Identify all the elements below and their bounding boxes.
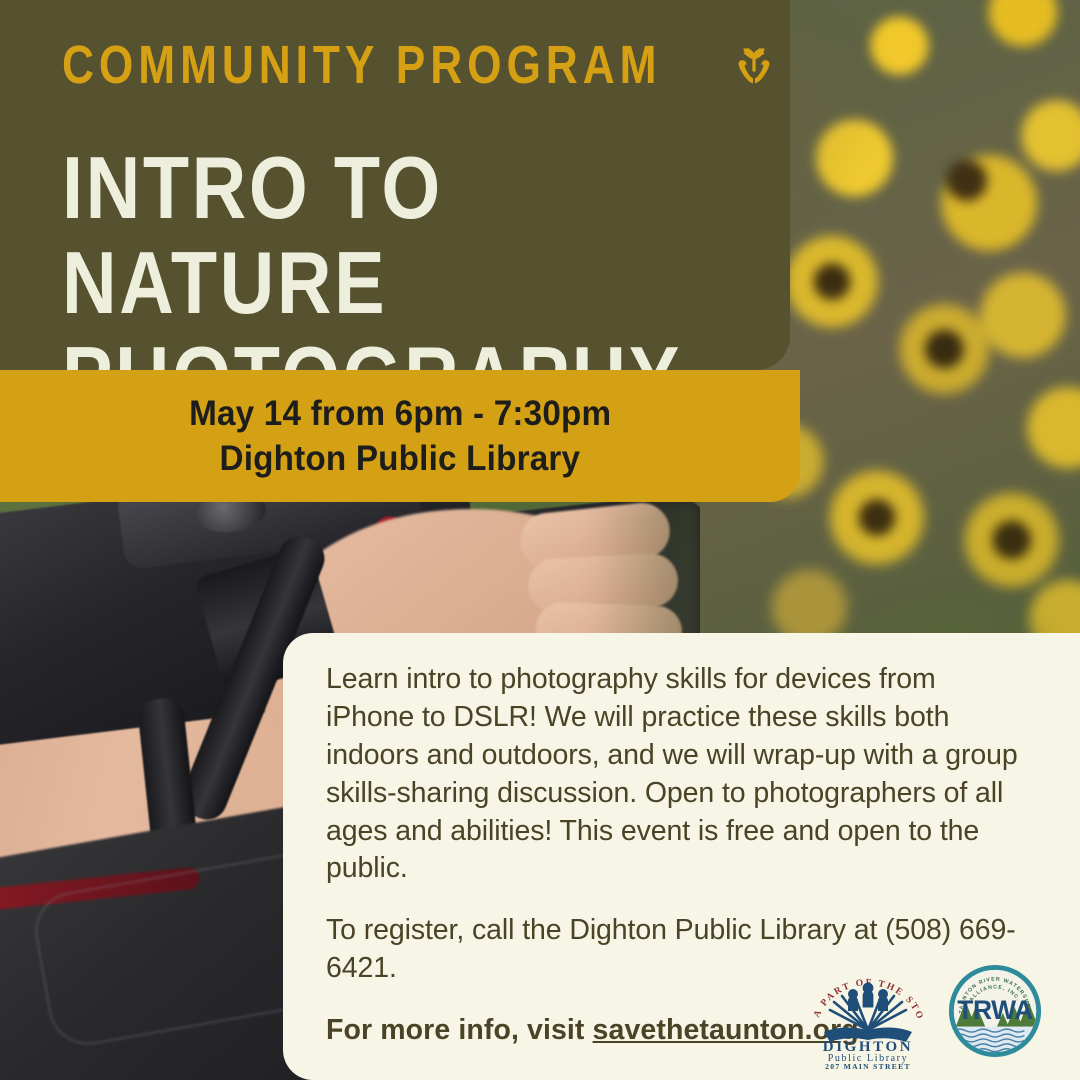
poster-canvas: COMMUNITY PROGRAM INTRO TO NATURE PHOTOG… — [0, 0, 1080, 1080]
event-details-band: May 14 from 6pm - 7:30pm Dighton Public … — [0, 370, 800, 502]
trwa-logo: TAUNTON RIVER WATERSHED ALLIANCE, INC. T… — [946, 962, 1044, 1060]
library-address: 207 MAIN STREET — [825, 1062, 911, 1070]
event-venue: Dighton Public Library — [220, 441, 581, 476]
dighton-public-library-logo: BE A PART OF THE STORY — [808, 958, 928, 1070]
event-description: Learn intro to photography skills for de… — [326, 661, 1026, 888]
eyebrow-row: COMMUNITY PROGRAM — [62, 34, 785, 96]
logo-row: BE A PART OF THE STORY — [808, 958, 1044, 1070]
description-card: Learn intro to photography skills for de… — [283, 633, 1080, 1080]
eyebrow-label: COMMUNITY PROGRAM — [62, 38, 661, 92]
headline-card: COMMUNITY PROGRAM INTRO TO NATURE PHOTOG… — [0, 0, 790, 370]
more-info-prefix: For more info, visit — [326, 1014, 593, 1046]
sprout-in-hands-icon — [723, 34, 785, 96]
event-datetime: May 14 from 6pm - 7:30pm — [189, 396, 611, 431]
trwa-acronym: TRWA — [957, 995, 1033, 1025]
